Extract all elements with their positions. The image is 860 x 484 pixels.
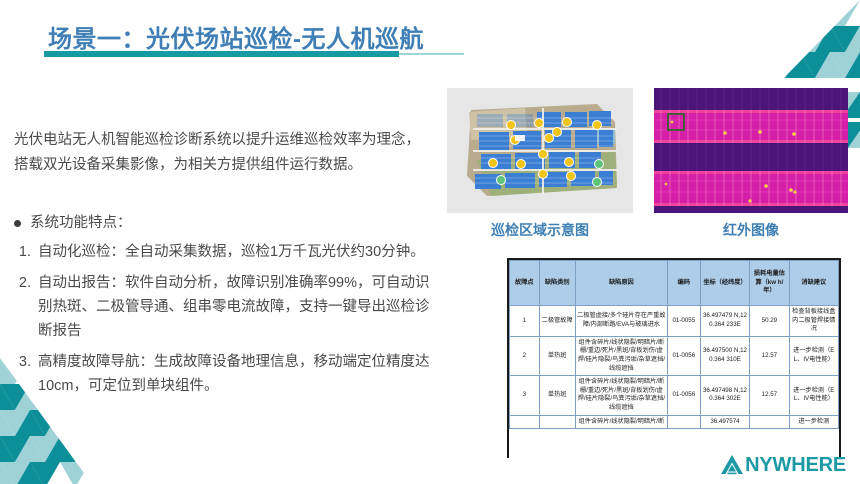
cell-fault-point: 3 [510,376,540,415]
cell-advice: 进一步检测（EL、IV电性能） [789,336,838,375]
list-item-number: 1. [14,240,31,264]
cell-defect-category: 单热斑 [539,336,575,375]
cell-defect-category: 单热斑 [539,376,575,415]
list-item-number: 2. [14,271,31,343]
title-rule-thick [44,51,399,57]
bullet-dot-icon [14,220,21,227]
slide-root: 场景一：光伏场站巡检-无人机巡航 光伏电站无人机智能巡检诊断系统以提升运维巡检效… [0,0,860,484]
cell-coordinates: 36.497498 N,120.364 302E [700,376,749,415]
infrared-figure [654,88,848,213]
cell-advice: 进一步检测（EL、IV电性能） [789,376,838,415]
infrared-image [654,88,848,213]
page-title: 场景一：光伏场站巡检-无人机巡航 [48,19,424,54]
aerial-map-figure [447,88,633,213]
col-header-defect-reason: 缺陷原因 [575,261,667,306]
col-header-fault-point: 故障点 [510,261,540,306]
cell-defect-reason: 组件含碎片/线状隐裂/明暗片/断栅/重边/死片/黑斑/背板划伤/虚焊/硅片隐裂/… [575,376,667,415]
cell-code: 01-0056 [667,376,700,415]
list-item-number: 3. [14,350,31,398]
cell-advice: 检查背板接线盒内二极管焊接情况 [789,306,838,337]
cell-fault-point: 2 [510,336,540,375]
list-item-text: 自动化巡检：全自动采集数据，巡检1万千瓦光伏约30分钟。 [38,240,438,264]
table-row[interactable]: 3 单热斑 组件含碎片/线状隐裂/明暗片/断栅/重边/死片/黑斑/背板划伤/虚焊… [510,376,839,415]
table-header-row: 故障点 缺陷类别 缺陷原因 编码 坐标（经纬度） 损耗电量估算（kw h/年） … [510,261,839,306]
cell-defect-category: 二极管故障 [539,306,575,337]
cell-coordinates: 36.497500 N,120.364 310E [700,336,749,375]
cell-code: 01-0055 [667,306,700,337]
cell-code: 01-0056 [667,336,700,375]
cell-defect-reason: 组件含碎片/线状隐裂/明暗片/断栅/重边/死片/黑斑/背板划伤/虚焊/硅片隐裂/… [575,336,667,375]
aerial-map-image [447,88,633,213]
list-item-text: 自动出报告：软件自动分析，故障识别准确率99%，可自动识别热斑、二极管导通、组串… [38,271,438,343]
anywhere-logo-icon [720,454,744,475]
cell-coordinates: 36.497479 N,120.364 233E [700,306,749,337]
table-row[interactable]: 1 二极管故障 二极管虚接/多个硅片存在严重故障/内部断路/EVA与玻璃进水 0… [510,306,839,337]
col-header-advice: 消缺建议 [789,261,838,306]
list-item: 1. 自动化巡检：全自动采集数据，巡检1万千瓦光伏约30分钟。 [14,240,438,264]
inspection-report-table[interactable]: 故障点 缺陷类别 缺陷原因 编码 坐标（经纬度） 损耗电量估算（kw h/年） … [507,258,841,458]
cell-defect-reason: 二极管虚接/多个硅片存在严重故障/内部断路/EVA与玻璃进水 [575,306,667,337]
cell-coordinates: 36.497574 [700,415,749,429]
lead-paragraph: 光伏电站无人机智能巡检诊断系统以提升运维巡检效率为理念，搭载双光设备采集影像，为… [14,128,434,178]
list-item-text: 高精度故障导航：生成故障设备地理信息，移动端定位精度达10cm，可定位到单块组件… [38,350,438,398]
table-row[interactable]: 2 单热斑 组件含碎片/线状隐裂/明暗片/断栅/重边/死片/黑斑/背板划伤/虚焊… [510,336,839,375]
infrared-caption: 红外图像 [654,220,848,240]
col-header-coordinates: 坐标（经纬度） [700,261,749,306]
cell-code [667,415,700,429]
anywhere-logo-wordmark: NYWHERE [745,455,846,475]
features-heading: 系统功能特点： [14,212,434,234]
aerial-map-caption: 巡检区域示意图 [447,220,633,240]
col-header-code: 编码 [667,261,700,306]
cell-energy-loss [750,415,789,429]
cell-energy-loss: 12.57 [750,336,789,375]
cell-energy-loss: 12.57 [750,376,789,415]
cell-advice: 进一步检测 [789,415,838,429]
cell-defect-reason: 组件含碎片/线状隐裂/明暗片/断 [575,415,667,429]
features-heading-label: 系统功能特点： [30,212,132,234]
cell-energy-loss: 50.29 [750,306,789,337]
list-item: 2. 自动出报告：软件自动分析，故障识别准确率99%，可自动识别热斑、二极管导通… [14,271,438,343]
cell-fault-point [510,415,540,429]
decorative-triangles-top-right [740,0,860,88]
table-row[interactable]: 组件含碎片/线状隐裂/明暗片/断 36.497574 进一步检测 [510,415,839,429]
col-header-energy-loss: 损耗电量估算（kw h/年） [750,261,789,306]
anywhere-logo: NYWHERE [720,454,846,475]
cell-defect-category [539,415,575,429]
features-list: 1. 自动化巡检：全自动采集数据，巡检1万千瓦光伏约30分钟。 2. 自动出报告… [14,240,438,405]
cell-fault-point: 1 [510,306,540,337]
list-item: 3. 高精度故障导航：生成故障设备地理信息，移动端定位精度达10cm，可定位到单… [14,350,438,398]
col-header-defect-category: 缺陷类别 [539,261,575,306]
